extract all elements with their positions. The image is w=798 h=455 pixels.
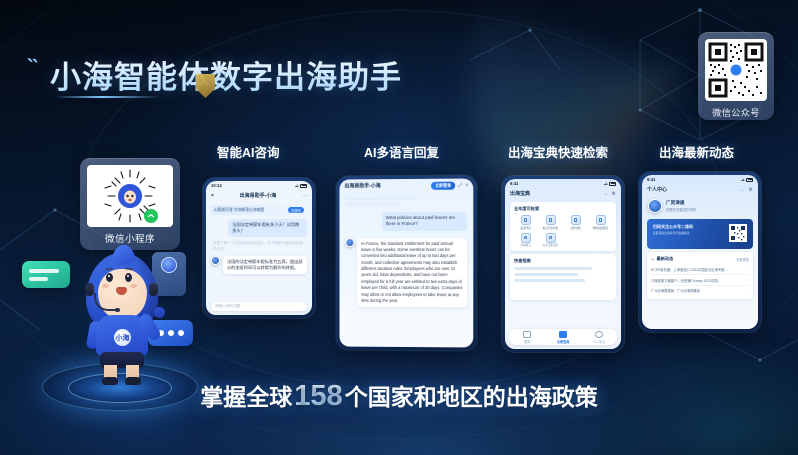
screen-handbook: 9:41 出海宝典 ← ⚙ 全年度可检索 投资环境	[505, 179, 621, 349]
handbook-section-card: 全年度可检索 投资环境 重点行业机会 法律法规	[510, 202, 616, 251]
app-bar: 出海易助手-小海 立即登录 ⤢ ×	[339, 179, 473, 193]
news-item-text: 又懂政策又懂客户—世贸通Chuneiy 2023中国…	[651, 278, 721, 283]
app-bar: 出海宝典 ← ⚙	[505, 188, 621, 199]
mascot-cheek-left	[102, 284, 109, 288]
grid-item[interactable]: 投资环境	[514, 215, 537, 230]
mascot-character: 小海	[76, 253, 168, 385]
tagline-suffix: 个国家和地区的出海政策	[345, 384, 598, 410]
column-header-multilang: AI多语言回复	[364, 142, 439, 161]
chat-row-ai: 法国的法定带薪年假标准为五周，超出部分的加班时间可以转换为额外的休假。	[211, 256, 307, 274]
profile-name: 广贸津通	[666, 200, 697, 206]
column-header-handbook: 出海宝典快速检索	[508, 142, 608, 161]
gear-icon[interactable]: ⚙	[749, 187, 753, 193]
chat-bubble-ai: 法国的法定带薪年假标准为五周，超出部分的加班时间可以转换为额外的休假。	[223, 256, 307, 274]
grid-item[interactable]: 法律法规	[564, 215, 587, 230]
qr-label-official: 微信公众号	[712, 106, 760, 119]
status-indicators	[741, 178, 754, 182]
app-title: 出海易助手-小海	[240, 192, 277, 199]
chevron-right-icon: ›	[748, 288, 749, 292]
status-bar: 9:41	[505, 179, 621, 188]
back-icon[interactable]: ←	[604, 191, 609, 197]
app-title: 出海宝典	[510, 190, 530, 197]
login-button[interactable]: 立即登录	[431, 181, 455, 189]
chat-bubble-user: 法国法定带薪年假有多少天？试用期多久？	[228, 219, 307, 237]
news-more-link[interactable]: 查看更多	[736, 257, 749, 262]
grid-item-label: 重点行业机会	[543, 227, 558, 230]
section-title: 全年度可检索	[514, 206, 612, 212]
status-time: 9:41	[647, 177, 655, 182]
signal-icon	[295, 184, 299, 188]
title-quote-mark: ``	[25, 56, 37, 81]
tab-label: 个人中心	[593, 339, 606, 344]
promo-banner-text: AI智能问答 为你解答出海难题	[214, 208, 264, 213]
app-bar: 个人中心 ← ⚙	[642, 184, 758, 195]
news-item-text: RCEP新机遇：上海吴淞口 2023中国宜业出海专题…	[651, 267, 728, 272]
qr-card-wechat-official[interactable]: 微信公众号	[698, 32, 774, 120]
chat-bubble-faded: 我想了解一下法国的劳动法规定，关于带薪年假和试用期的内容。	[211, 241, 307, 252]
news-card: ✧ 最新动态 查看更多 RCEP新机遇：上海吴淞口 2023中国宜业出海专题… …	[647, 252, 753, 299]
headset-earcup-right	[149, 283, 158, 296]
app-bar-actions: 立即登录 ⤢ ×	[431, 181, 468, 189]
chat-body: AI智能问答 为你解答出海难题 去提问 法国法定带薪年假有多少天？试用期多久？ …	[206, 201, 312, 278]
news-header: ✧ 最新动态 查看更多	[651, 256, 749, 262]
status-time: 9:41	[510, 181, 518, 186]
status-time: 10:13	[211, 183, 222, 188]
news-title-group: ✧ 最新动态	[651, 256, 673, 262]
app-bar-actions: ← ⚙	[741, 187, 753, 193]
chat-icon	[523, 331, 531, 338]
qr-label-miniprogram: 微信小程序	[105, 231, 155, 245]
user-icon	[595, 331, 603, 338]
profile-row[interactable]: 广贸津通 查看并完善您的资料	[642, 195, 758, 217]
chat-row-ai: In France, the standard entitlement for …	[345, 238, 467, 308]
back-icon[interactable]: ←	[741, 187, 746, 193]
grid-item[interactable]: 劳动用工	[514, 233, 537, 248]
mascot-eye-left	[106, 273, 113, 282]
battery-icon	[609, 182, 616, 186]
health-icon	[546, 233, 556, 243]
list-item[interactable]: 又懂政策又懂客户—世贸通Chuneiy 2023中国… ›	[651, 275, 749, 285]
column-header-news: 出海最新动态	[659, 142, 734, 161]
app-title: 个人中心	[647, 186, 667, 193]
grid-item-label: 投资环境	[520, 227, 530, 230]
signal-icon	[604, 182, 608, 186]
profile-subtitle: 查看并完善您的资料	[666, 207, 697, 212]
phone-mockup-handbook: 9:41 出海宝典 ← ⚙ 全年度可检索 投资环境	[502, 176, 624, 352]
tagline-prefix: 掌握全球	[200, 384, 292, 410]
bottom-tab-bar: 咨询 出海宝典 个人中心	[509, 329, 617, 345]
poster-canvas: `` 小海智能体数字出海助手	[0, 0, 798, 455]
qr-code-image-official	[705, 39, 767, 101]
book-icon	[559, 331, 567, 338]
qr-code-image-miniprogram	[87, 165, 173, 227]
app-title: 出海易助手-小海	[344, 182, 380, 189]
grid-item[interactable]: 重点行业机会	[539, 215, 562, 230]
grid-item[interactable]: 财税制度解读	[589, 215, 612, 230]
grid-item-label: 财税制度解读	[593, 227, 608, 230]
gear-icon[interactable]: ⚙	[612, 191, 616, 197]
expand-icon[interactable]: ⤢	[458, 182, 462, 188]
title-underline	[54, 96, 160, 98]
chevron-right-icon: ›	[748, 278, 749, 282]
law-icon	[571, 215, 581, 225]
tab-label: 咨询	[524, 339, 530, 344]
news-item-text: 广州出海周集锦 · 广州出海周集锦	[651, 288, 700, 293]
grid-item[interactable]: 公共卫生安全	[539, 233, 562, 248]
mascot-chest-logo: 小海	[114, 329, 131, 346]
avatar	[648, 199, 662, 213]
close-icon[interactable]: ×	[211, 193, 214, 199]
promo-banner-button[interactable]: 去提问	[288, 207, 304, 213]
tagline-number: 158	[292, 380, 344, 412]
phone-mockup-multilang: 出海易助手-小海 立即登录 ⤢ × What policies about pa…	[337, 175, 477, 350]
promo-card[interactable]: 扫码关注公众号二维码 获取更多出海资讯与政策解读	[647, 219, 753, 249]
status-indicators	[295, 184, 308, 188]
more-icon[interactable]: ···	[302, 193, 307, 199]
column-header-ai-consult: 智能AI咨询	[217, 142, 280, 161]
chat-body: What policies about paid leaves are ther…	[339, 192, 473, 313]
phone-mockup-personal-center: 9:41 个人中心 ← ⚙ 广贸津通 查看并完善您的资料	[639, 172, 761, 332]
battery-icon	[746, 178, 753, 182]
screen-personal-center: 9:41 个人中心 ← ⚙ 广贸津通 查看并完善您的资料	[642, 175, 758, 329]
investment-icon	[521, 215, 531, 225]
sparkle-icon: ✧	[651, 257, 655, 262]
mascot-eye-right	[125, 273, 132, 282]
section-title-secondary: 快查指南	[514, 258, 612, 264]
battery-icon	[300, 184, 307, 188]
tab-consult[interactable]: 咨询	[509, 331, 545, 344]
screen-multilang: 出海易助手-小海 立即登录 ⤢ × What policies about pa…	[339, 179, 473, 348]
grid-item-label: 劳动用工	[520, 244, 530, 247]
status-bar: 9:41	[642, 175, 758, 184]
app-bar-actions: ← ⚙	[604, 191, 616, 197]
tab-handbook[interactable]: 出海宝典	[545, 331, 581, 344]
list-item[interactable]: 广州出海周集锦 · 广州出海周集锦 ›	[651, 286, 749, 295]
bottom-tagline: 掌握全球158个国家和地区的出海政策	[0, 378, 798, 413]
page-title-block: `` 小海智能体数字出海助手	[26, 52, 402, 97]
handbook-icon-grid: 投资环境 重点行业机会 法律法规 财税制度解读	[514, 215, 612, 247]
promo-banner[interactable]: AI智能问答 为你解答出海难题 去提问	[211, 205, 307, 215]
grid-item-label: 公共卫生安全	[543, 244, 558, 247]
headset-earcup-left	[85, 283, 94, 296]
page-title: 小海智能体数字出海助手	[50, 52, 402, 97]
status-bar: 10:13	[206, 181, 312, 190]
labor-icon	[521, 233, 531, 243]
tab-personal[interactable]: 个人中心	[581, 331, 617, 344]
status-indicators	[604, 182, 617, 186]
signal-icon	[741, 178, 745, 182]
handbook-second-section: 快查指南	[510, 254, 616, 300]
promo-qr-code	[729, 224, 747, 242]
tab-label: 出海宝典	[557, 339, 570, 344]
mascot-cheek-right	[130, 284, 137, 288]
chevron-right-icon: ›	[748, 268, 749, 272]
industry-icon	[546, 215, 556, 225]
avatar	[345, 238, 354, 247]
chat-bubble-ai: In France, the standard entitlement for …	[357, 238, 467, 308]
list-item[interactable]: RCEP新机遇：上海吴淞口 2023中国宜业出海专题… ›	[651, 265, 749, 275]
close-icon[interactable]: ×	[465, 182, 468, 188]
app-bar: × 出海易助手-小海 ···	[206, 190, 312, 201]
ghost-placeholder	[345, 197, 467, 206]
news-title: 最新动态	[657, 256, 674, 262]
grid-item-label: 法律法规	[570, 227, 580, 230]
chat-bubble-user: What policies about paid leaves are ther…	[382, 212, 468, 231]
chat-input[interactable]: 请输入你的问题	[211, 302, 307, 311]
tax-icon	[596, 215, 606, 225]
qr-card-wechat-miniprogram[interactable]: 微信小程序	[80, 158, 180, 250]
mascot-hand	[154, 307, 165, 318]
screen-ai-consult: 10:13 × 出海易助手-小海 ··· AI智能问答 为你解答出海难题 去提问…	[206, 181, 312, 315]
